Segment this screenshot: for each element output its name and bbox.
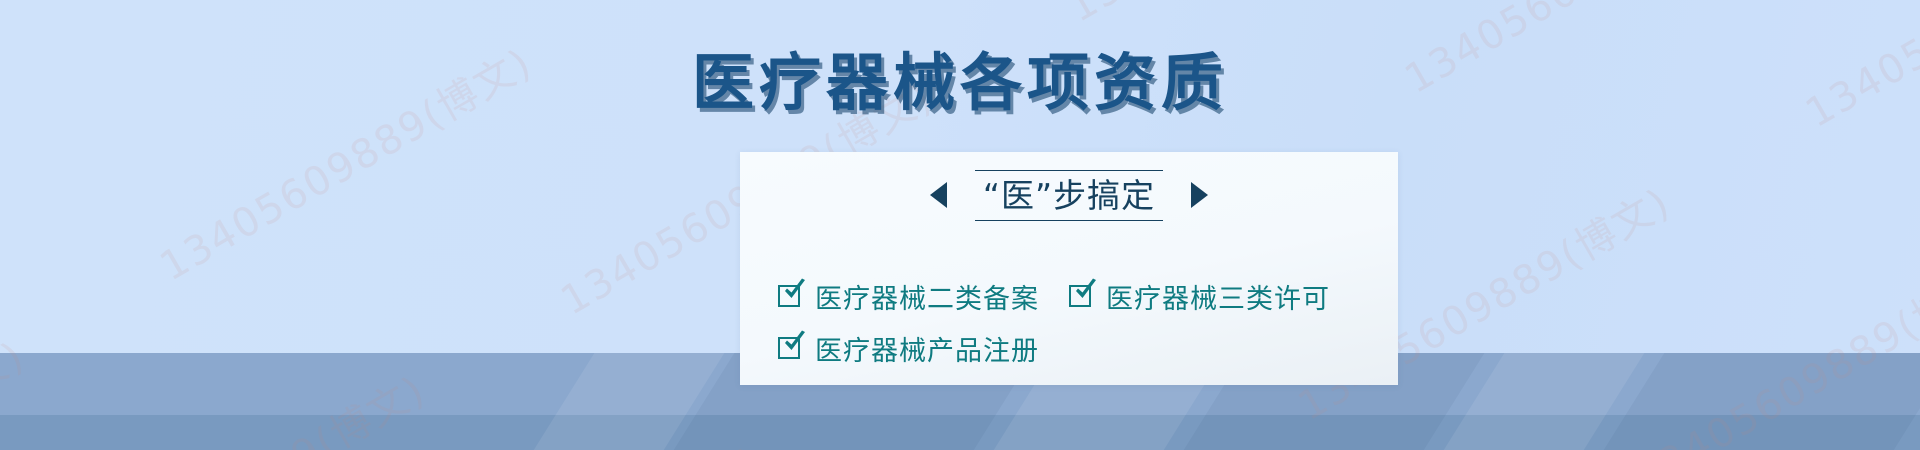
checklist-item[interactable]: 医疗器械产品注册: [778, 329, 1039, 368]
checkbox-checked-icon[interactable]: [778, 285, 800, 307]
watermark-text: 13405609889(博文): [1061, 0, 1449, 32]
card-headline-wrap: “医”步搞定: [973, 170, 1165, 221]
checklist-item-label: 医疗器械三类许可: [1106, 277, 1330, 316]
checkbox-checked-icon[interactable]: [1069, 285, 1091, 307]
checklist-row: 医疗器械二类备案 医疗器械三类许可: [778, 270, 1398, 322]
qualification-checklist: 医疗器械二类备案 医疗器械三类许可: [740, 270, 1398, 374]
checklist-item[interactable]: 医疗器械二类备案: [778, 277, 1039, 316]
checkbox-checked-icon[interactable]: [778, 337, 800, 359]
triangle-left-icon: [930, 182, 947, 208]
card-headline: “医”步搞定: [979, 170, 1159, 221]
checklist-row: 医疗器械产品注册: [778, 322, 1398, 374]
divider-top: [975, 170, 1163, 171]
card-header: “医”步搞定: [740, 170, 1398, 221]
banner-title: 医疗器械各项资质: [0, 32, 1920, 122]
checklist-item-label: 医疗器械二类备案: [815, 277, 1039, 316]
promo-banner: 13405609889(博文) 13405609889(博文) 13405609…: [0, 0, 1920, 450]
checklist-item[interactable]: 医疗器械三类许可: [1069, 277, 1330, 316]
divider-bottom: [975, 220, 1163, 221]
info-card: “医”步搞定 医疗器械二类备案: [740, 152, 1398, 385]
checklist-item-label: 医疗器械产品注册: [815, 329, 1039, 368]
floor-band-bottom: [0, 415, 1920, 450]
triangle-right-icon: [1191, 182, 1208, 208]
